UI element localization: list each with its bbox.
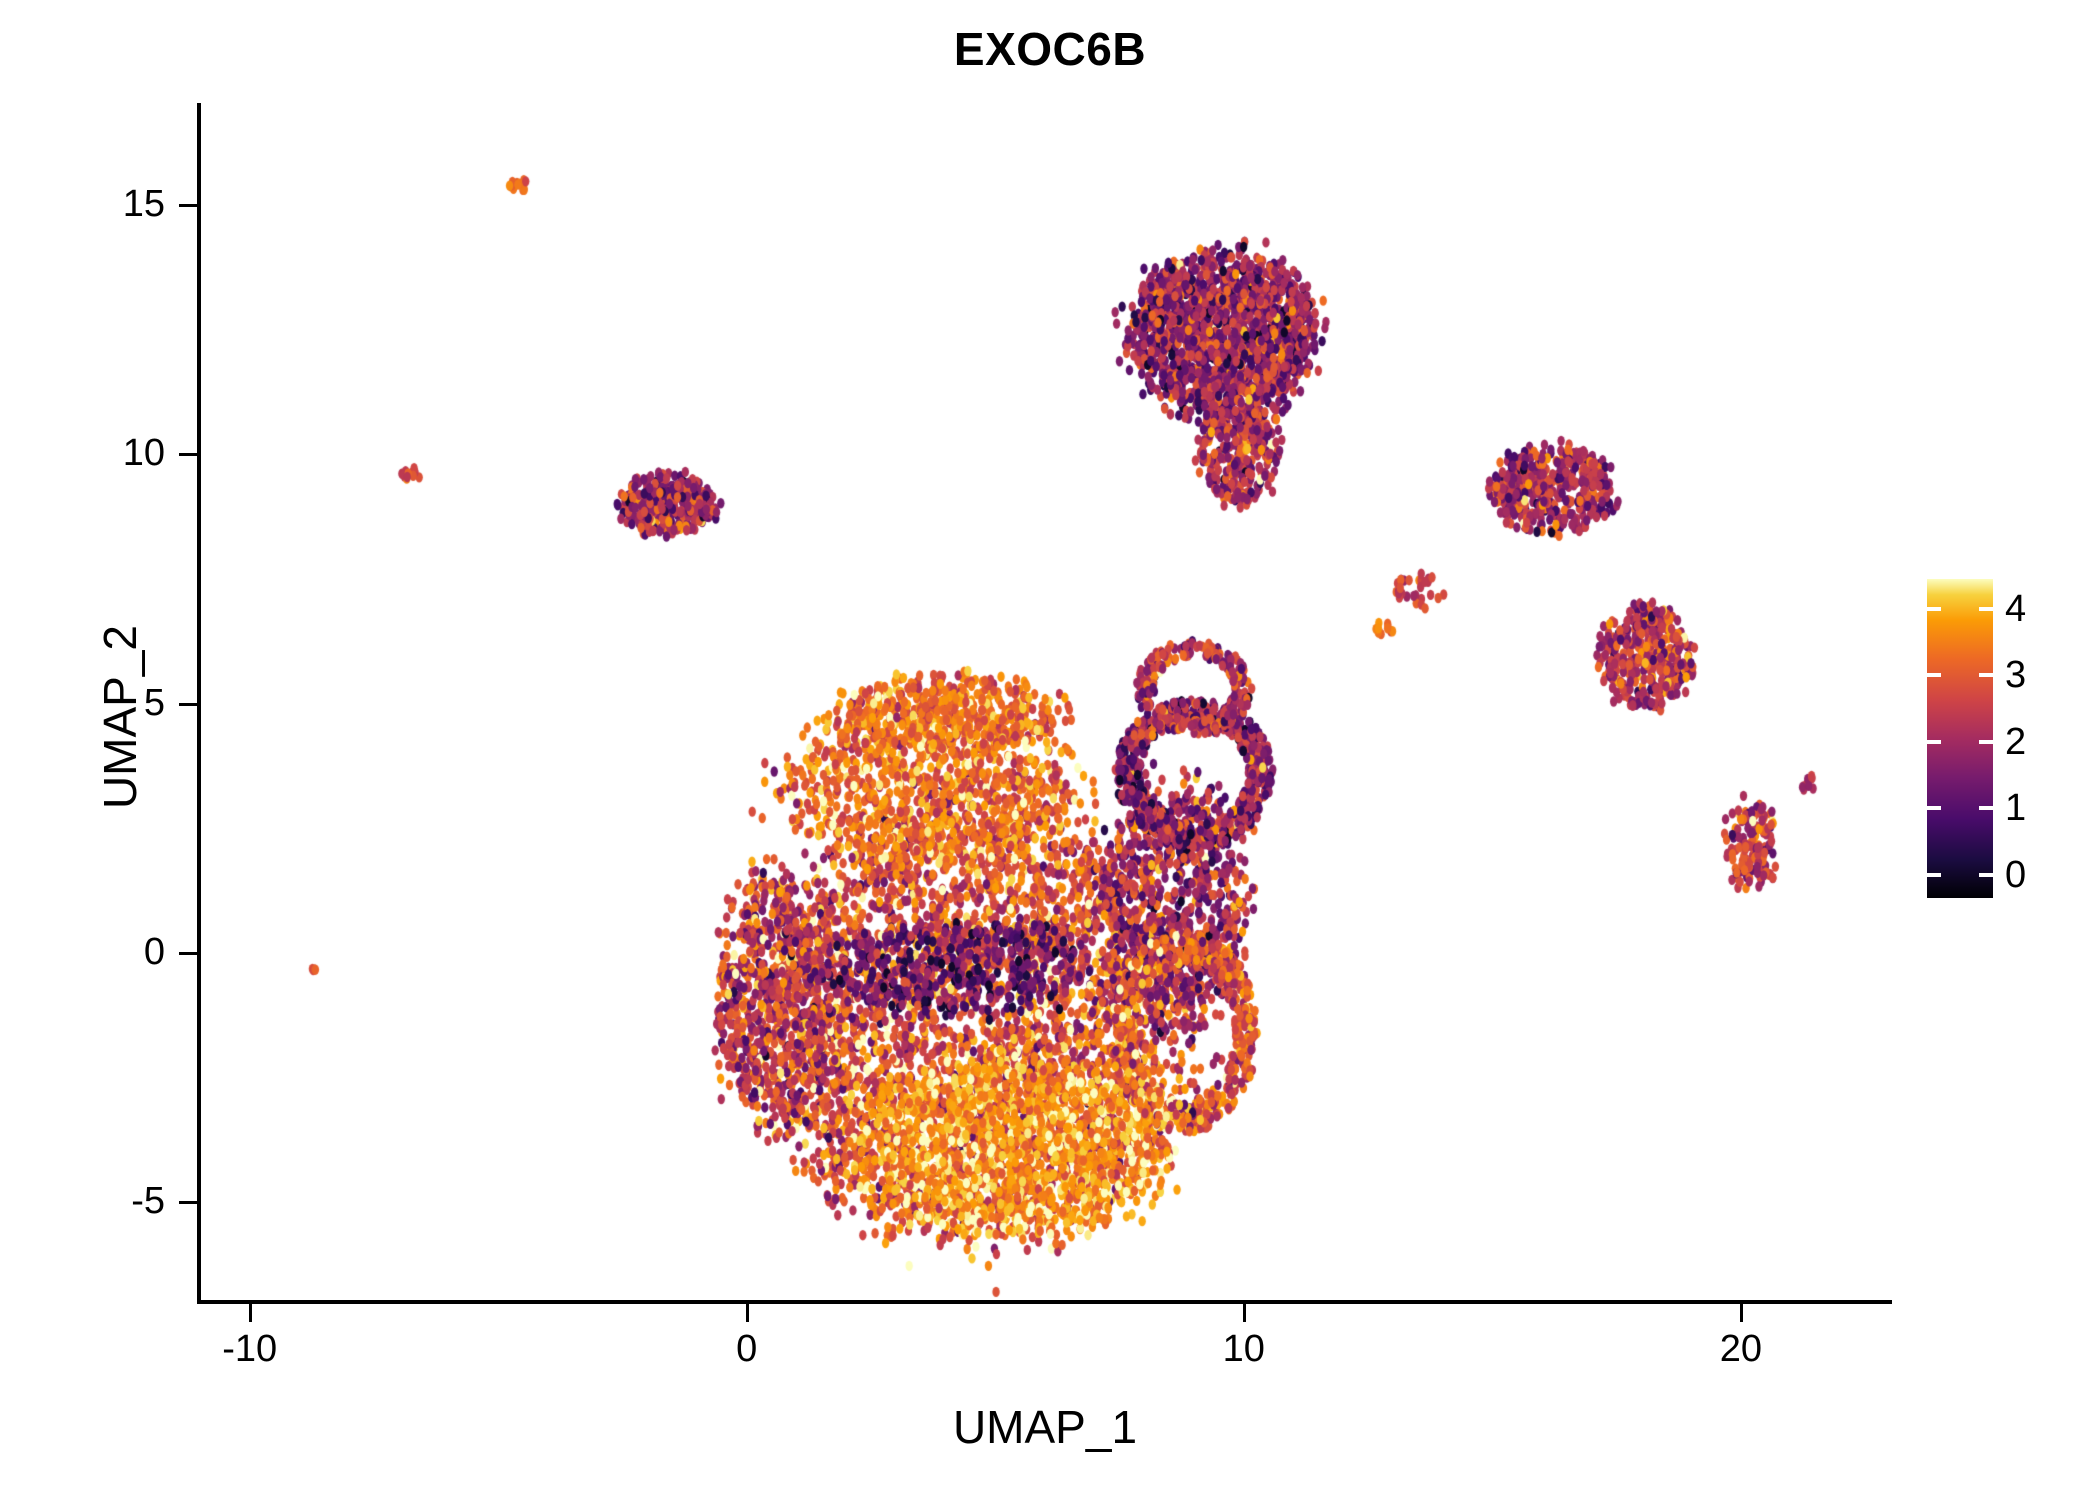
colorbar-tick: [1979, 873, 1993, 877]
y-tick-mark: [179, 204, 197, 207]
colorbar-legend: [1927, 579, 1993, 898]
colorbar-tick: [1979, 673, 1993, 677]
y-tick-label: 15: [25, 183, 165, 226]
scatter-canvas: [200, 105, 1890, 1302]
figure-root: { "chart_data": { "type": "scatter", "ti…: [0, 0, 2100, 1500]
x-tick-mark: [1740, 1304, 1743, 1322]
colorbar-tick: [1927, 806, 1941, 810]
y-tick-mark: [179, 1201, 197, 1204]
chart-title: EXOC6B: [0, 22, 2100, 76]
colorbar-tick: [1979, 607, 1993, 611]
x-tick-mark: [1243, 1304, 1246, 1322]
y-tick-mark: [179, 453, 197, 456]
colorbar-tick-label: 4: [2005, 590, 2026, 628]
x-axis-label: UMAP_1: [200, 1400, 1890, 1454]
y-tick-label: -5: [25, 1180, 165, 1223]
x-axis-line: [197, 1300, 1892, 1304]
colorbar-tick: [1979, 806, 1993, 810]
colorbar-tick: [1927, 873, 1941, 877]
y-axis-line: [197, 103, 201, 1304]
x-tick-label: 10: [1164, 1328, 1324, 1371]
y-axis-label: UMAP_2: [93, 267, 147, 1167]
x-tick-label: 0: [667, 1328, 827, 1371]
colorbar-tick: [1927, 740, 1941, 744]
colorbar-tick: [1979, 740, 1993, 744]
x-tick-mark: [249, 1304, 252, 1322]
colorbar-tick: [1927, 673, 1941, 677]
colorbar-tick-label: 0: [2005, 856, 2026, 894]
colorbar-gradient: [1927, 579, 1993, 898]
y-tick-mark: [179, 703, 197, 706]
colorbar-tick-label: 3: [2005, 656, 2026, 694]
plot-panel: [200, 105, 1890, 1302]
colorbar-tick-label: 2: [2005, 723, 2026, 761]
colorbar-tick-label: 1: [2005, 789, 2026, 827]
x-tick-mark: [746, 1304, 749, 1322]
x-tick-label: -10: [170, 1328, 330, 1371]
x-tick-label: 20: [1661, 1328, 1821, 1371]
colorbar-tick: [1927, 607, 1941, 611]
y-tick-mark: [179, 952, 197, 955]
